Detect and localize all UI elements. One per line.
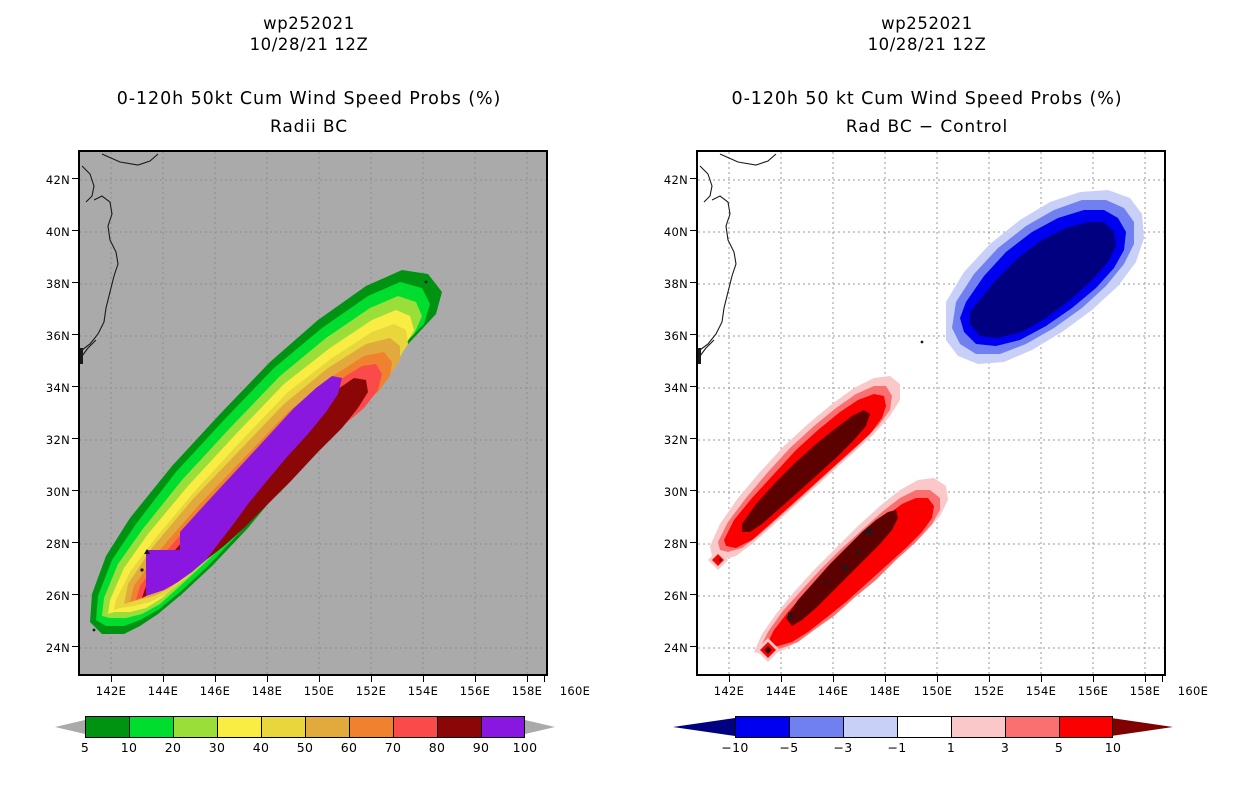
left-ylabel-24N: 24N bbox=[32, 641, 70, 655]
left-cbar-band-80-90 bbox=[437, 716, 481, 738]
right-ytick-24N bbox=[690, 646, 696, 647]
left-cbar-band-10-20 bbox=[129, 716, 173, 738]
left-colorbar-under-arrow bbox=[55, 720, 85, 734]
right-cbar-band-3-5 bbox=[1005, 716, 1059, 738]
left-xtick-148E bbox=[267, 676, 268, 682]
right-ylabel-42N: 42N bbox=[650, 173, 688, 187]
left-ytick-38N bbox=[72, 282, 78, 283]
right-cbar-band-n10-n5 bbox=[735, 716, 789, 738]
right-xtick-142E bbox=[729, 676, 730, 682]
left-cbar-label-40: 40 bbox=[253, 740, 270, 755]
left-xlabel-156E: 156E bbox=[450, 684, 500, 698]
left-ytick-36N bbox=[72, 334, 78, 335]
right-title-line: 0-120h 50 kt Cum Wind Speed Probs (%) bbox=[618, 89, 1236, 109]
right-title: 0-120h 50 kt Cum Wind Speed Probs (%) bbox=[618, 89, 1236, 109]
left-cbar-label-5: 5 bbox=[81, 740, 89, 755]
panel-rad-bc-control: wp252021 10/28/21 12Z 0-120h 50 kt Cum W… bbox=[618, 0, 1236, 800]
right-ylabel-40N: 40N bbox=[650, 225, 688, 239]
right-ylabel-32N: 32N bbox=[650, 433, 688, 447]
left-map-frame bbox=[78, 150, 548, 676]
right-xtick-150E bbox=[937, 676, 938, 682]
right-xtick-144E bbox=[781, 676, 782, 682]
right-cbar-label-1: 1 bbox=[947, 740, 955, 755]
left-ytick-34N bbox=[72, 386, 78, 387]
left-ytick-32N bbox=[72, 438, 78, 439]
left-ylabel-34N: 34N bbox=[32, 381, 70, 395]
right-ytick-34N bbox=[690, 386, 696, 387]
right-ylabel-38N: 38N bbox=[650, 277, 688, 291]
left-ytick-42N bbox=[72, 178, 78, 179]
right-xtick-158E bbox=[1145, 676, 1146, 682]
right-xlabel-156E: 156E bbox=[1068, 684, 1118, 698]
right-small-cells bbox=[708, 550, 780, 662]
right-xlabel-158E: 158E bbox=[1120, 684, 1170, 698]
left-ylabel-28N: 28N bbox=[32, 537, 70, 551]
left-ytick-40N bbox=[72, 230, 78, 231]
left-cbar-band-50-60 bbox=[305, 716, 349, 738]
right-xlabel-154E: 154E bbox=[1016, 684, 1066, 698]
left-title-line: 0-120h 50kt Cum Wind Speed Probs (%) bbox=[0, 89, 618, 109]
left-xtick-146E bbox=[215, 676, 216, 682]
left-xtick-142E bbox=[111, 676, 112, 682]
right-cbar-label-neg3: −3 bbox=[833, 740, 852, 755]
left-datetime-line: 10/28/21 12Z bbox=[0, 35, 618, 54]
left-storm-id-line: wp252021 bbox=[0, 14, 618, 33]
left-ytick-30N bbox=[72, 490, 78, 491]
right-xtick-156E bbox=[1093, 676, 1094, 682]
right-map-canvas bbox=[698, 152, 1164, 674]
right-xlabel-144E: 144E bbox=[756, 684, 806, 698]
left-xlabel-146E: 146E bbox=[190, 684, 240, 698]
right-ylabel-26N: 26N bbox=[650, 589, 688, 603]
right-coastline bbox=[700, 154, 776, 356]
right-ytick-26N bbox=[690, 594, 696, 595]
right-cbar-band-5-10 bbox=[1059, 716, 1113, 738]
right-xlabel-142E: 142E bbox=[704, 684, 754, 698]
right-xlabel-148E: 148E bbox=[860, 684, 910, 698]
left-cbar-band-30-40 bbox=[217, 716, 261, 738]
left-cbar-label-70: 70 bbox=[385, 740, 402, 755]
left-cbar-label-50: 50 bbox=[297, 740, 314, 755]
right-xlabel-152E: 152E bbox=[964, 684, 1014, 698]
left-xtick-160E bbox=[544, 676, 545, 682]
left-ytick-24N bbox=[72, 646, 78, 647]
right-cbar-label-3: 3 bbox=[1001, 740, 1009, 755]
left-xlabel-152E: 152E bbox=[346, 684, 396, 698]
right-cbar-label-10: 10 bbox=[1105, 740, 1122, 755]
right-cbar-band-n5-n3 bbox=[789, 716, 843, 738]
left-coast-mark bbox=[80, 348, 83, 364]
left-ylabel-36N: 36N bbox=[32, 329, 70, 343]
left-ylabel-38N: 38N bbox=[32, 277, 70, 291]
right-map-frame bbox=[696, 150, 1166, 676]
right-xlabel-160E: 160E bbox=[1168, 684, 1218, 698]
left-ylabel-30N: 30N bbox=[32, 485, 70, 499]
left-cbar-band-20-30 bbox=[173, 716, 217, 738]
left-cbar-label-80: 80 bbox=[429, 740, 446, 755]
right-ylabel-36N: 36N bbox=[650, 329, 688, 343]
right-xtick-148E bbox=[885, 676, 886, 682]
left-cbar-label-90: 90 bbox=[473, 740, 490, 755]
left-cbar-band-70-80 bbox=[393, 716, 437, 738]
left-cbar-band-90-100 bbox=[481, 716, 525, 738]
right-xtick-146E bbox=[833, 676, 834, 682]
right-ylabel-34N: 34N bbox=[650, 381, 688, 395]
left-xtick-144E bbox=[163, 676, 164, 682]
left-cbar-band-40-50 bbox=[261, 716, 305, 738]
left-storm-id: wp252021 bbox=[0, 14, 618, 33]
left-ylabel-40N: 40N bbox=[32, 225, 70, 239]
right-colorbar-over-arrow bbox=[1111, 718, 1173, 736]
right-xtick-160E bbox=[1162, 676, 1163, 682]
left-xtick-150E bbox=[319, 676, 320, 682]
right-xtick-152E bbox=[989, 676, 990, 682]
right-ylabel-24N: 24N bbox=[650, 641, 688, 655]
left-ylabel-42N: 42N bbox=[32, 173, 70, 187]
left-xtick-152E bbox=[371, 676, 372, 682]
right-coast-mark bbox=[698, 348, 701, 364]
left-colorbar-over-arrow bbox=[525, 720, 555, 734]
right-ytick-32N bbox=[690, 438, 696, 439]
left-subtitle-line: Radii BC bbox=[0, 117, 618, 137]
left-ytick-28N bbox=[72, 542, 78, 543]
left-xlabel-160E: 160E bbox=[550, 684, 600, 698]
left-xtick-156E bbox=[475, 676, 476, 682]
left-cbar-label-20: 20 bbox=[165, 740, 182, 755]
left-subtitle: Radii BC bbox=[0, 117, 618, 137]
left-xlabel-150E: 150E bbox=[294, 684, 344, 698]
right-xlabel-146E: 146E bbox=[808, 684, 858, 698]
right-ylabel-30N: 30N bbox=[650, 485, 688, 499]
right-subtitle: Rad BC − Control bbox=[618, 117, 1236, 137]
right-ylabel-28N: 28N bbox=[650, 537, 688, 551]
left-title: 0-120h 50kt Cum Wind Speed Probs (%) bbox=[0, 89, 618, 109]
right-ytick-28N bbox=[690, 542, 696, 543]
left-cbar-label-30: 30 bbox=[209, 740, 226, 755]
right-plot-area: 24N 26N 28N 30N 32N 34N 36N 38N 40N 42N … bbox=[696, 150, 1166, 676]
left-map-canvas bbox=[80, 152, 546, 674]
left-cbar-band-60-70 bbox=[349, 716, 393, 738]
right-xlabel-150E: 150E bbox=[912, 684, 962, 698]
right-cbar-label-neg5: −5 bbox=[779, 740, 798, 755]
left-xlabel-148E: 148E bbox=[242, 684, 292, 698]
left-xlabel-158E: 158E bbox=[502, 684, 552, 698]
left-colorbar: 5 10 20 30 40 50 60 70 80 90 100 bbox=[55, 716, 555, 762]
left-xlabel-144E: 144E bbox=[138, 684, 188, 698]
left-cbar-label-100: 100 bbox=[513, 740, 538, 755]
right-datetime-line: 10/28/21 12Z bbox=[618, 35, 1236, 54]
left-xlabel-142E: 142E bbox=[86, 684, 136, 698]
right-cbar-band-1-3 bbox=[951, 716, 1005, 738]
left-ytick-26N bbox=[72, 594, 78, 595]
left-coastline bbox=[82, 154, 158, 356]
right-storm-id: wp252021 bbox=[618, 14, 1236, 33]
right-colorbar-under-arrow bbox=[673, 718, 735, 736]
right-cbar-band-n3-n1 bbox=[843, 716, 897, 738]
chart-page: wp252021 10/28/21 12Z 0-120h 50kt Cum Wi… bbox=[0, 0, 1236, 800]
left-plot-area: 24N 26N 28N 30N 32N 34N 36N 38N 40N 42N … bbox=[78, 150, 548, 676]
right-xtick-154E bbox=[1041, 676, 1042, 682]
right-subtitle-line: Rad BC − Control bbox=[618, 117, 1236, 137]
left-cbar-label-60: 60 bbox=[341, 740, 358, 755]
right-ytick-30N bbox=[690, 490, 696, 491]
left-xtick-154E bbox=[423, 676, 424, 682]
right-ytick-40N bbox=[690, 230, 696, 231]
left-cbar-label-10: 10 bbox=[121, 740, 138, 755]
right-ytick-36N bbox=[690, 334, 696, 335]
right-cbar-label-5: 5 bbox=[1055, 740, 1063, 755]
right-ytick-42N bbox=[690, 178, 696, 179]
left-xlabel-154E: 154E bbox=[398, 684, 448, 698]
panel-radii-bc: wp252021 10/28/21 12Z 0-120h 50kt Cum Wi… bbox=[0, 0, 618, 800]
left-datetime: 10/28/21 12Z bbox=[0, 35, 618, 54]
right-cbar-label-neg10: −10 bbox=[721, 740, 748, 755]
right-cbar-band-n1-1 bbox=[897, 716, 951, 738]
right-datetime: 10/28/21 12Z bbox=[618, 35, 1236, 54]
right-cbar-label-neg1: −1 bbox=[887, 740, 906, 755]
left-cbar-band-5-10 bbox=[85, 716, 129, 738]
right-colorbar: −10 −5 −3 −1 1 3 5 10 bbox=[673, 716, 1173, 762]
left-ylabel-26N: 26N bbox=[32, 589, 70, 603]
left-ylabel-32N: 32N bbox=[32, 433, 70, 447]
left-xtick-158E bbox=[527, 676, 528, 682]
right-storm-id-line: wp252021 bbox=[618, 14, 1236, 33]
right-ytick-38N bbox=[690, 282, 696, 283]
